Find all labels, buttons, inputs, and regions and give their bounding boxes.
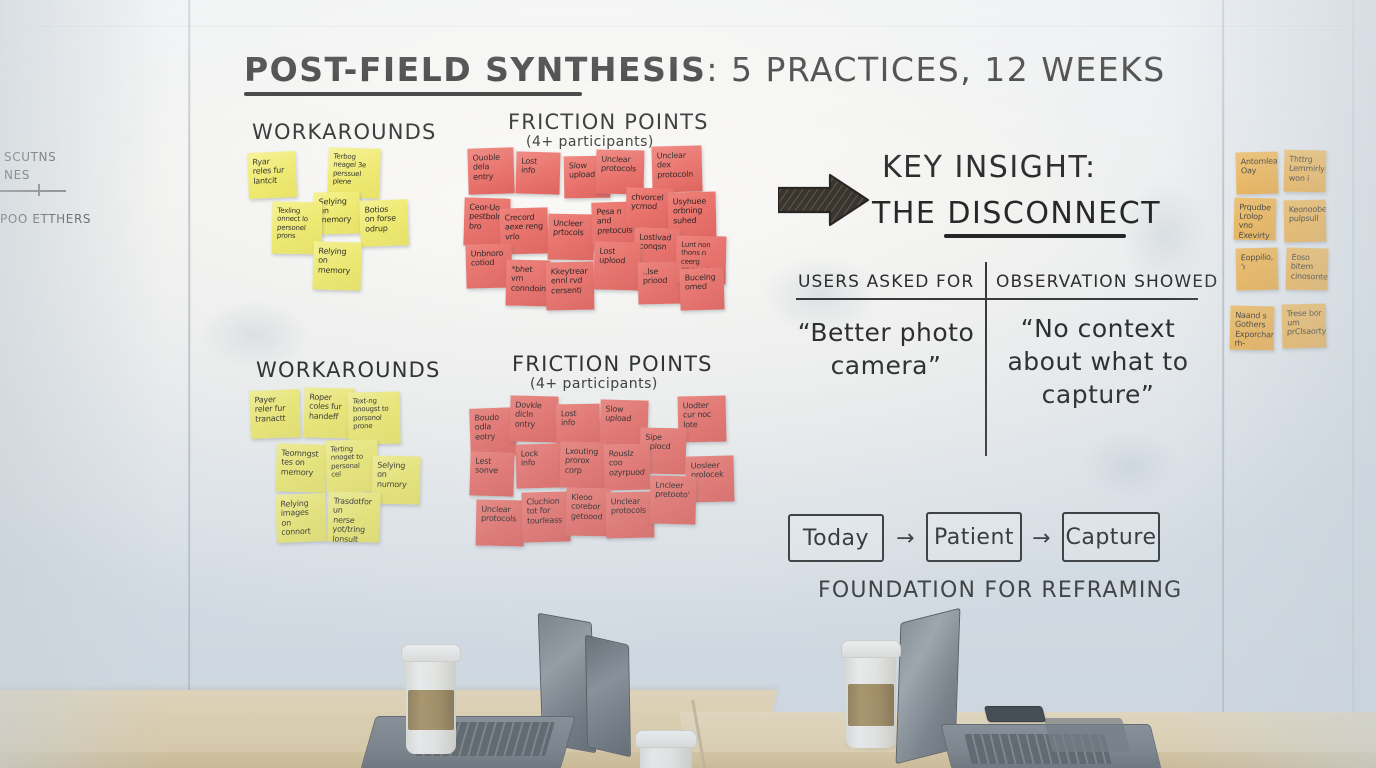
- sticky-note-friction[interactable]: Rouslzcooozyrpuod: [604, 444, 651, 491]
- note-text-line: prons: [277, 231, 319, 240]
- note-text-line: priood: [643, 276, 678, 286]
- note-text-line: eotry: [475, 431, 512, 442]
- note-text-line: Exporchar rh-: [1234, 330, 1270, 350]
- note-text-line: ozyrpuod: [609, 467, 646, 477]
- note-text-line: cinosonte: [1290, 271, 1324, 281]
- note-text-line: getoood: [571, 511, 607, 521]
- note-text-line: nerse yot/tring: [332, 515, 376, 535]
- sticky-note-friction[interactable]: Cluchiontot fortourleass: [521, 491, 570, 542]
- heading-workarounds-bottom: WORKAROUNDS: [256, 358, 441, 382]
- quote-observation: “No context about what to capture”: [1000, 312, 1196, 411]
- note-text-line: cotiod: [471, 258, 508, 268]
- cup-lid: [841, 640, 901, 658]
- coffee-cup-right: [846, 640, 904, 752]
- whiteboard-photo: SCUTNS NES POO ETTHERS POST-FIELD SYNTHE…: [0, 0, 1376, 768]
- sticky-note-friction[interactable]: Lncleerpretooto': [649, 475, 696, 524]
- cup-lid: [401, 644, 461, 662]
- note-text-line: conqsn: [639, 242, 677, 253]
- note-text-line: cersenti: [551, 285, 590, 295]
- comparison-horizontal-rule: [796, 298, 1198, 300]
- note-text-line: suhed: [673, 215, 712, 225]
- edge-rule: [0, 190, 66, 192]
- edge-tick: [38, 184, 40, 196]
- whiteboard-top-edge: [0, 26, 1376, 28]
- edge-note-line-3: POO ETTHERS: [0, 212, 91, 226]
- sticky-note-workaround[interactable]: Payerreler furtranactt: [249, 389, 301, 439]
- note-text-line: Oay: [1241, 166, 1274, 176]
- note-text-line: prolocek: [691, 470, 730, 480]
- note-text-line: 'ı: [1241, 262, 1274, 272]
- note-text-line: pulpsull: [1289, 214, 1322, 224]
- comparison-vertical-rule: [985, 262, 987, 456]
- note-text-line: lote: [683, 419, 722, 429]
- sticky-note-friction[interactable]: Unclearprotocols: [476, 500, 525, 547]
- sticky-note-right-panel[interactable]: Eoppilio,'ı: [1236, 248, 1279, 291]
- sticky-note-friction[interactable]: *bhetvrnconndoind: [505, 260, 550, 307]
- sticky-note-friction[interactable]: Lestsonve: [469, 451, 514, 496]
- sticky-note-friction[interactable]: Kleoocoreborgetoood: [565, 487, 610, 536]
- coffee-cup-left: [406, 644, 464, 756]
- edge-note-line-2: NES: [4, 168, 30, 182]
- sticky-note-workaround[interactable]: Ryarreles furlantcit: [247, 151, 297, 199]
- cup-sleeve: [408, 690, 454, 730]
- note-text-line: Eoso bitem: [1290, 253, 1324, 273]
- flow-step-capture[interactable]: Capture: [1062, 512, 1160, 562]
- flow-arrow-2-icon: →: [1032, 526, 1050, 551]
- whiteboard-panel-seam-right: [1222, 0, 1225, 768]
- block-arrow-right-icon: [778, 172, 870, 228]
- note-text-line: pretooto': [655, 490, 693, 500]
- sticky-note-friction[interactable]: Dovklediclnontry: [509, 395, 558, 442]
- subtitle-friction-bottom: (4+ participants): [530, 376, 658, 392]
- sticky-note-workaround[interactable]: Tertingnnoget topersonalcel: [325, 439, 378, 492]
- sticky-note-workaround[interactable]: Text-ngbnougst toporsonolprone: [347, 391, 400, 444]
- note-text-line: won i: [1288, 174, 1322, 184]
- note-text-line: Trasdotfor un: [333, 497, 377, 517]
- heading-friction-top: FRICTION POINTS: [508, 110, 709, 134]
- sticky-note-right-panel[interactable]: Keonoobespulpsull: [1284, 200, 1327, 243]
- whiteboard-panel-seam-far-right: [1352, 0, 1355, 768]
- note-text-line: entry: [473, 171, 510, 182]
- sticky-note-right-panel[interactable]: Naand sGothersExporchar rh-: [1230, 306, 1275, 351]
- sticky-note-friction[interactable]: Unclearprotocols: [606, 492, 655, 539]
- note-text-line: vrlo: [505, 231, 544, 241]
- note-text-line: upload: [605, 414, 645, 425]
- coffee-cup-center: [640, 730, 702, 768]
- note-text-line: protocols: [601, 164, 641, 174]
- sticky-note-friction[interactable]: Kkeytrearennl rvdcersenti: [546, 262, 595, 311]
- heading-workarounds-top: WORKAROUNDS: [252, 120, 437, 144]
- note-text-line: ycmod: [631, 202, 671, 212]
- column-header-users-asked: USERS ASKED FOR: [798, 272, 974, 292]
- note-text-line: omed: [685, 282, 720, 292]
- sticky-note-friction[interactable]: Lockinfo: [515, 443, 562, 488]
- note-text-line: protocols: [481, 514, 521, 524]
- note-text-line: oplocd: [645, 442, 683, 452]
- note-text-line: cel: [331, 469, 374, 478]
- note-text-line: plene: [332, 177, 376, 187]
- quote-users-asked: “Better photo camera”: [796, 316, 976, 382]
- sticky-note-friction[interactable]: Ouobledelaentry: [467, 147, 514, 194]
- note-text-line: prone: [353, 421, 396, 430]
- note-text-line: sonve: [475, 466, 511, 476]
- sticky-note-friction[interactable]: Lostuplood: [593, 241, 640, 290]
- note-text-line: info: [521, 166, 557, 176]
- page-title-underline: [244, 92, 582, 96]
- note-text-line: memory: [318, 265, 358, 275]
- note-text-line: Gothers: [1235, 320, 1271, 330]
- note-text-line: protocols: [611, 506, 650, 516]
- note-text-line: tranactt: [255, 413, 296, 424]
- laptop-right-trackpad: [1044, 718, 1130, 752]
- sticky-note-workaround[interactable]: Botioson forseodrup: [359, 199, 409, 247]
- note-text-line: ontry: [515, 419, 555, 429]
- key-insight-underline: [944, 234, 1126, 238]
- note-text-line: numory: [377, 479, 417, 489]
- sticky-note-workaround[interactable]: Relyingimageson connort: [275, 493, 327, 543]
- note-text-line: tourleass: [527, 515, 566, 526]
- sticky-note-workaround[interactable]: Teomngsttes onmemory: [275, 443, 326, 493]
- note-text-line: conndoind: [511, 283, 547, 293]
- laptop-middle-lid: [585, 635, 631, 758]
- cup-sleeve: [848, 684, 894, 726]
- flow-arrow-1-icon: →: [896, 526, 914, 551]
- flow-step-patient[interactable]: Patient: [926, 512, 1022, 562]
- note-text-line: odrup: [365, 223, 404, 234]
- sticky-note-right-panel[interactable]: AntomleatOay: [1235, 151, 1278, 194]
- whiteboard-panel-seam-left: [188, 0, 191, 768]
- note-text-line: lantcit: [253, 175, 292, 186]
- sticky-note-right-panel[interactable]: Trese borum prClsaorty: [1281, 303, 1326, 348]
- note-text-line: um prClsaorty: [1287, 318, 1323, 338]
- sticky-note-right-panel[interactable]: Eoso bitemcinosonte: [1285, 247, 1328, 290]
- note-text-line: memory: [280, 467, 322, 478]
- edge-note-line-1: SCUTNS: [4, 150, 56, 164]
- column-header-observation: OBSERVATION SHOWED: [996, 272, 1218, 292]
- note-text-line: onnect lo: [277, 215, 319, 224]
- note-text-line: info: [521, 458, 558, 468]
- note-text-line: prtocols: [553, 228, 591, 238]
- note-text-line: Lrolop vno: [1238, 212, 1272, 232]
- flow-step-today[interactable]: Today: [788, 514, 884, 562]
- phone-on-desk: [984, 706, 1046, 722]
- note-text-line: uplood: [599, 256, 637, 266]
- note-text-line: lonsult: [332, 534, 376, 542]
- subtitle-friction-top: (4+ participants): [526, 134, 654, 150]
- note-text-line: corp: [565, 465, 603, 475]
- note-text-line: bnougst to: [353, 405, 396, 414]
- key-insight-line-2: THE DISCONNECT: [872, 196, 1161, 231]
- sticky-note-friction[interactable]: Bucelngomed: [679, 267, 724, 310]
- page-title: POST-FIELD SYNTHESIS: 5 PRACTICES, 12 WE…: [244, 50, 1166, 90]
- sticky-note-right-panel[interactable]: PrqudbeLrolop vnoExevirty: [1233, 197, 1276, 240]
- note-text-line: on connort: [281, 517, 322, 537]
- key-insight-line-1: KEY INSIGHT:: [882, 150, 1097, 185]
- note-text-line: Lemmirly: [1289, 164, 1323, 174]
- note-text-line: Exevirty: [1238, 231, 1272, 241]
- page-title-main: POST-FIELD SYNTHESIS: [244, 50, 706, 89]
- note-text-line: info: [561, 418, 596, 428]
- sticky-note-friction[interactable]: Uncleardexprotocoln: [651, 145, 702, 192]
- note-text-line: handeff: [309, 411, 351, 421]
- note-text-line: thons n: [681, 249, 723, 258]
- sticky-note-right-panel[interactable]: ThttrgLemmirlywon i: [1284, 150, 1327, 193]
- sticky-note-workaround[interactable]: Trasdotfor unnerse yot/tringlonsult: [327, 491, 380, 542]
- sticky-note-friction[interactable]: Uncleerprtocols: [548, 214, 595, 261]
- page-title-suffix: : 5 PRACTICES, 12 WEEKS: [706, 50, 1165, 89]
- cup-lid: [635, 730, 697, 748]
- key-insight-prefix: THE: [872, 196, 947, 231]
- key-insight-emphasis: DISCONNECT: [947, 196, 1161, 231]
- note-text-line: protocoln: [657, 169, 698, 180]
- flow-caption: FOUNDATION FOR REFRAMING: [818, 578, 1182, 603]
- sticky-note-friction[interactable]: Lostinfo: [515, 151, 560, 194]
- heading-friction-bottom: FRICTION POINTS: [512, 352, 713, 376]
- sticky-note-workaround[interactable]: Relyingonmemory: [312, 241, 361, 290]
- note-text-line: ennl rvd: [551, 276, 590, 286]
- sticky-note-friction[interactable]: Lxoutingproroxcorp: [559, 441, 606, 488]
- note-text-line: on memory: [319, 206, 356, 226]
